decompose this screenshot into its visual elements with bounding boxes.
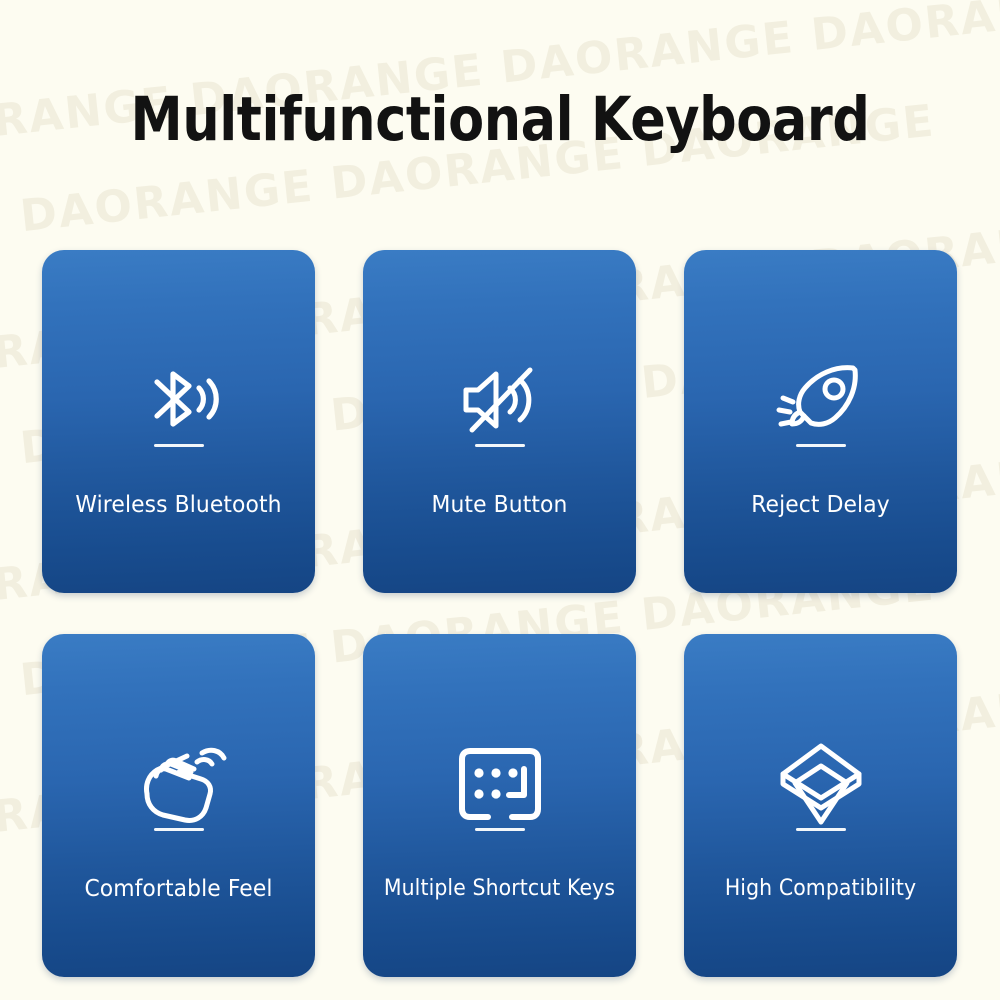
promo-page: Multifunctional Keyboard Wireless Blueto… [0,0,1000,1000]
feature-card-mute-button[interactable]: Mute Button [363,250,636,593]
page-title: Multifunctional Keyboard [70,84,930,155]
feature-label: Reject Delay [691,492,950,518]
feature-card-reject-delay[interactable]: Reject Delay [684,250,957,593]
feature-label: Mute Button [370,492,629,518]
feature-label: High Compatibility [694,876,948,901]
card-divider [154,828,204,831]
card-divider [796,828,846,831]
feature-card-comfortable-feel[interactable]: Comfortable Feel [42,634,315,977]
feature-card-high-compatibility[interactable]: High Compatibility [684,634,957,977]
feature-label: Comfortable Feel [49,876,308,902]
feature-card-wireless-bluetooth[interactable]: Wireless Bluetooth [42,250,315,593]
card-divider [796,444,846,447]
feature-label: Multiple Shortcut Keys [373,876,627,901]
feature-grid: Wireless Bluetooth Mute Button [42,250,958,977]
feature-card-multiple-shortcut-keys[interactable]: Multiple Shortcut Keys [363,634,636,977]
card-divider [475,444,525,447]
card-divider [475,828,525,831]
card-divider [154,444,204,447]
feature-label: Wireless Bluetooth [49,492,308,518]
